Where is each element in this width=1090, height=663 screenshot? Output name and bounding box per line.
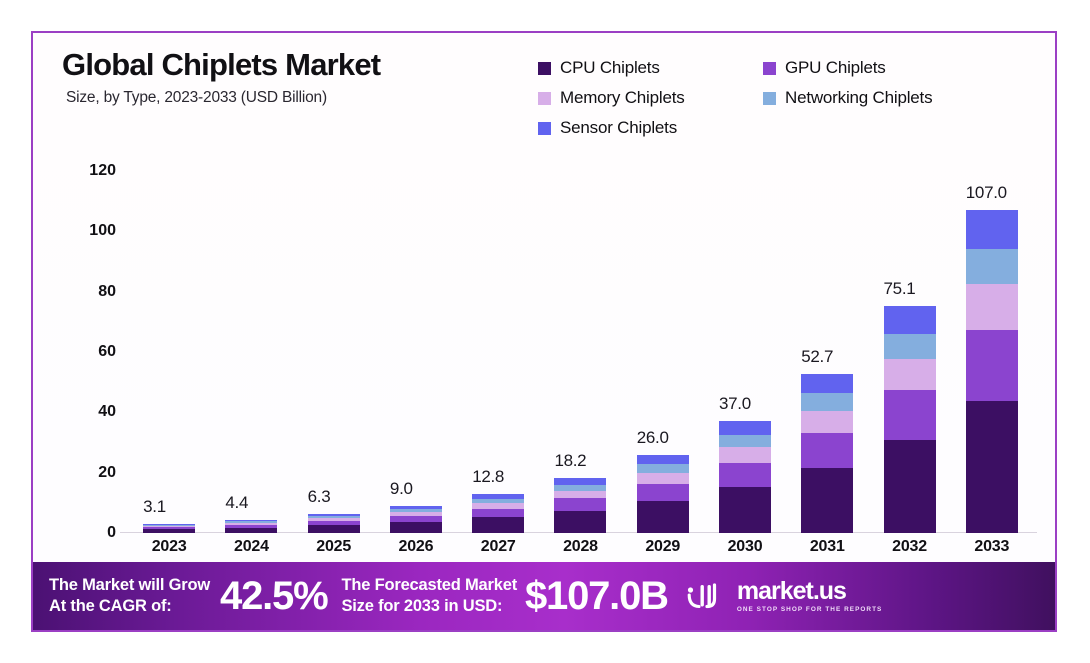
- bar-value-label: 37.0: [719, 394, 751, 414]
- legend-label: Memory Chiplets: [560, 88, 685, 108]
- bar-segment: [884, 390, 936, 440]
- bar-slot: 75.1: [868, 171, 950, 533]
- cagr-caption-line1: The Market will Grow: [49, 575, 210, 596]
- bar-segment: [966, 210, 1018, 249]
- bar-segment: [884, 359, 936, 391]
- chart-legend: CPU ChipletsGPU ChipletsMemory ChipletsN…: [538, 53, 1038, 143]
- bar-slot: 26.0: [622, 171, 704, 533]
- bar-value-label: 75.1: [884, 279, 916, 299]
- bar-slot: 12.8: [457, 171, 539, 533]
- chart-panel: Global Chiplets Market Size, by Type, 20…: [33, 33, 1055, 562]
- legend-swatch-icon: [763, 92, 776, 105]
- bar-value-label: 52.7: [801, 347, 833, 367]
- stacked-bar[interactable]: 26.0: [637, 455, 689, 533]
- bar-segment: [719, 421, 771, 434]
- cagr-value: 42.5%: [220, 574, 327, 619]
- bar-segment: [966, 401, 1018, 533]
- bar-segment: [801, 433, 853, 468]
- bar-segment: [884, 334, 936, 359]
- bar-segment: [966, 284, 1018, 329]
- forecast-value: $107.0B: [525, 574, 668, 619]
- brand-name: market.us: [737, 579, 883, 604]
- y-axis-tick: 40: [98, 403, 116, 421]
- bar-value-label: 9.0: [390, 479, 413, 499]
- bar-segment: [966, 330, 1018, 401]
- legend-item[interactable]: Networking Chiplets: [763, 83, 1038, 113]
- bar-segment: [637, 473, 689, 484]
- stacked-bar[interactable]: 9.0: [390, 506, 442, 533]
- bar-segment: [225, 528, 277, 533]
- cagr-block: The Market will Grow At the CAGR of: 42.…: [49, 574, 327, 619]
- bar-segment: [884, 440, 936, 533]
- x-axis-label: 2024: [210, 538, 292, 556]
- legend-label: Sensor Chiplets: [560, 118, 677, 138]
- bar-segment: [143, 529, 195, 533]
- forecast-caption: The Forecasted Market Size for 2033 in U…: [341, 575, 517, 617]
- x-axis-label: 2023: [128, 538, 210, 556]
- bar-segment: [308, 525, 360, 533]
- stacked-bar[interactable]: 107.0: [966, 210, 1018, 533]
- infographic-card: Global Chiplets Market Size, by Type, 20…: [31, 31, 1057, 632]
- legend-label: GPU Chiplets: [785, 58, 886, 78]
- bar-segment: [472, 509, 524, 518]
- bar-slot: 37.0: [704, 171, 786, 533]
- y-axis-tick: 20: [98, 464, 116, 482]
- bar-segment: [554, 498, 606, 510]
- stacked-bar[interactable]: 75.1: [884, 306, 936, 533]
- bar-slot: 18.2: [539, 171, 621, 533]
- stacked-bar[interactable]: 6.3: [308, 514, 360, 533]
- legend-swatch-icon: [763, 62, 776, 75]
- legend-swatch-icon: [538, 92, 551, 105]
- y-axis-tick: 100: [89, 222, 116, 240]
- bar-slot: 3.1: [128, 171, 210, 533]
- bar-segment: [472, 517, 524, 533]
- legend-item[interactable]: Memory Chiplets: [538, 83, 763, 113]
- bar-value-label: 3.1: [143, 497, 166, 517]
- plot-area: 3.14.46.39.012.818.226.037.052.775.1107.…: [128, 171, 1033, 533]
- forecast-caption-line1: The Forecasted Market: [341, 575, 517, 596]
- footer-banner: The Market will Grow At the CAGR of: 42.…: [33, 562, 1055, 630]
- chart-header: Global Chiplets Market Size, by Type, 20…: [62, 49, 380, 107]
- bar-segment: [637, 464, 689, 473]
- stacked-bar[interactable]: 52.7: [801, 374, 853, 533]
- legend-item[interactable]: CPU Chiplets: [538, 53, 763, 83]
- page-title: Global Chiplets Market: [62, 49, 380, 82]
- x-axis-label: 2032: [868, 538, 950, 556]
- forecast-caption-line2: Size for 2033 in USD:: [341, 596, 517, 617]
- bar-segment: [719, 463, 771, 488]
- stacked-bar[interactable]: 3.1: [143, 524, 195, 533]
- y-axis-tick: 60: [98, 343, 116, 361]
- bar-segment: [801, 393, 853, 410]
- brand-logo[interactable]: market.us ONE STOP SHOP FOR THE REPORTS: [686, 579, 883, 613]
- bar-segment: [801, 468, 853, 533]
- x-axis-label: 2025: [293, 538, 375, 556]
- legend-swatch-icon: [538, 122, 551, 135]
- bar-segment: [637, 501, 689, 533]
- legend-label: Networking Chiplets: [785, 88, 932, 108]
- y-axis-tick: 0: [107, 524, 116, 542]
- bar-segment: [637, 455, 689, 464]
- y-axis-tick: 80: [98, 283, 116, 301]
- x-axis-label: 2031: [786, 538, 868, 556]
- bar-value-label: 107.0: [966, 183, 1007, 203]
- x-axis-label: 2030: [704, 538, 786, 556]
- bar-segment: [719, 447, 771, 463]
- x-axis-label: 2027: [457, 538, 539, 556]
- x-axis-label: 2033: [951, 538, 1033, 556]
- bar-value-label: 12.8: [472, 467, 504, 487]
- bar-segment: [966, 249, 1018, 285]
- bar-segment: [801, 374, 853, 393]
- stacked-bar[interactable]: 18.2: [554, 478, 606, 533]
- legend-item[interactable]: Sensor Chiplets: [538, 113, 763, 143]
- bar-slot: 4.4: [210, 171, 292, 533]
- bar-segment: [637, 484, 689, 501]
- forecast-block: The Forecasted Market Size for 2033 in U…: [341, 574, 667, 619]
- bar-value-label: 6.3: [308, 487, 331, 507]
- y-axis-tick: 120: [89, 162, 116, 180]
- bar-segment: [554, 511, 606, 533]
- bar-segment: [719, 435, 771, 447]
- stacked-bar[interactable]: 4.4: [225, 520, 277, 533]
- bar-segment: [554, 478, 606, 485]
- bar-segment: [801, 411, 853, 433]
- x-axis-label: 2028: [539, 538, 621, 556]
- bar-group: 3.14.46.39.012.818.226.037.052.775.1107.…: [128, 171, 1033, 533]
- bar-segment: [884, 306, 936, 333]
- stacked-bar[interactable]: 12.8: [472, 494, 524, 533]
- market-us-mark-icon: [686, 581, 728, 611]
- bar-slot: 6.3: [293, 171, 375, 533]
- legend-swatch-icon: [538, 62, 551, 75]
- x-axis-labels: 2023202420252026202720282029203020312032…: [128, 538, 1033, 556]
- cagr-caption-line2: At the CAGR of:: [49, 596, 210, 617]
- legend-label: CPU Chiplets: [560, 58, 660, 78]
- legend-item[interactable]: GPU Chiplets: [763, 53, 1038, 83]
- x-axis-label: 2029: [622, 538, 704, 556]
- chart-subtitle: Size, by Type, 2023-2033 (USD Billion): [66, 89, 380, 107]
- bar-value-label: 26.0: [637, 428, 669, 448]
- cagr-caption: The Market will Grow At the CAGR of:: [49, 575, 210, 617]
- brand-tagline: ONE STOP SHOP FOR THE REPORTS: [737, 607, 883, 613]
- bar-slot: 107.0: [951, 171, 1033, 533]
- bar-slot: 52.7: [786, 171, 868, 533]
- brand-text: market.us ONE STOP SHOP FOR THE REPORTS: [737, 579, 883, 613]
- bar-value-label: 18.2: [554, 451, 586, 471]
- bar-segment: [390, 522, 442, 533]
- bar-segment: [719, 487, 771, 533]
- bar-segment: [554, 491, 606, 499]
- bar-slot: 9.0: [375, 171, 457, 533]
- x-axis-label: 2026: [375, 538, 457, 556]
- stacked-bar[interactable]: 37.0: [719, 421, 771, 533]
- bar-value-label: 4.4: [225, 493, 248, 513]
